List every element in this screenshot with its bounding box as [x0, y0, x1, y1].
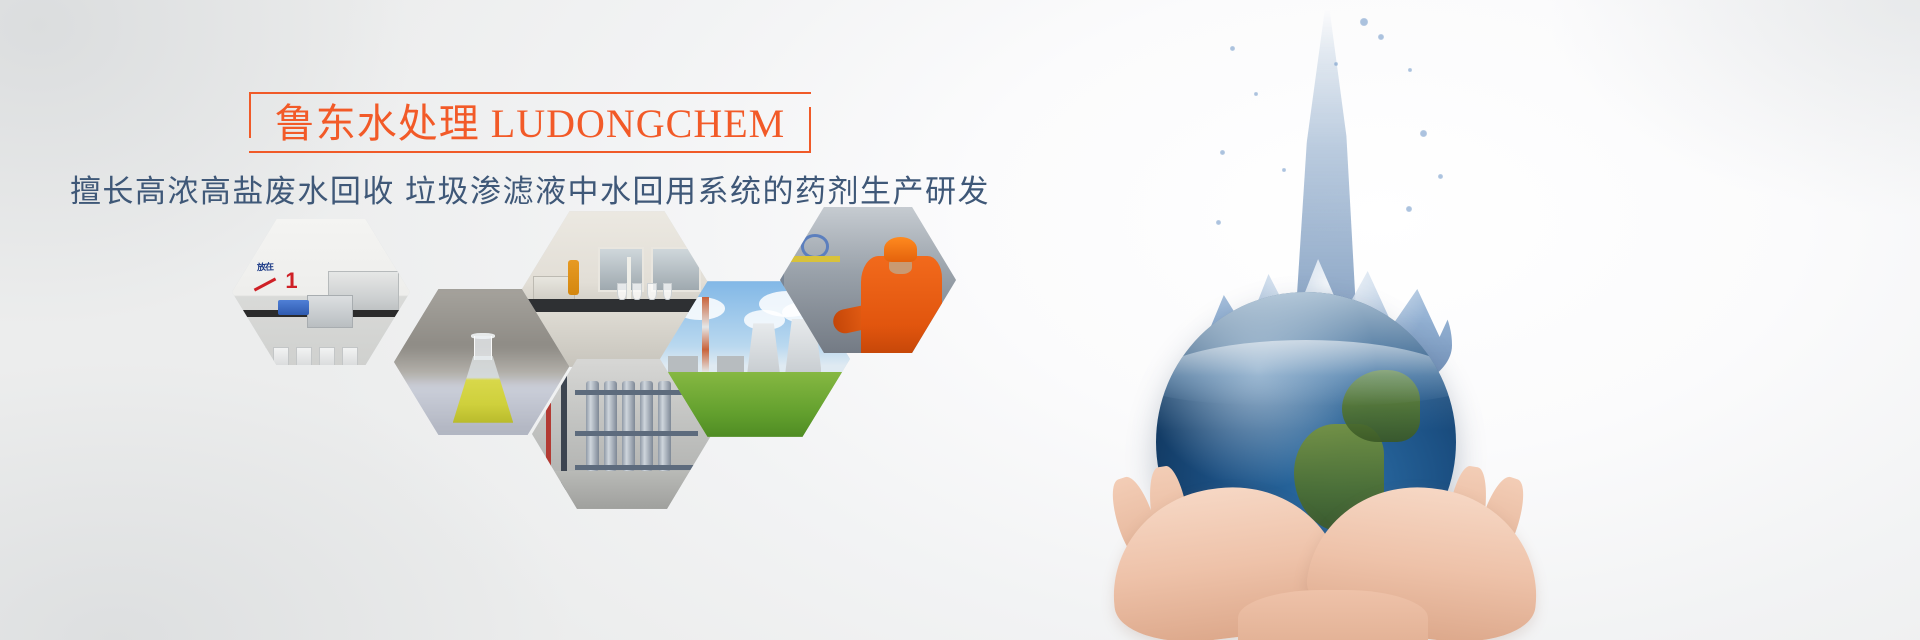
lab-glassware	[617, 283, 627, 301]
water-droplet	[1438, 174, 1443, 179]
yellow-pipe	[787, 256, 840, 262]
horizontal-pipe	[575, 431, 697, 436]
title-frame-top-rule	[249, 92, 811, 94]
water-droplet	[1282, 168, 1286, 172]
lab-glassware	[647, 283, 657, 301]
lab-machine	[307, 295, 353, 328]
banner-subtitle: 擅长高浓高盐废水回收 垃圾渗滤液中水回用系统的药剂生产研发	[0, 172, 1060, 212]
lab-window	[651, 247, 700, 292]
lab-room-photo: 放在 1	[232, 216, 410, 368]
cupped-hands	[1088, 470, 1558, 640]
banner-text-block: 鲁东水处理 LUDONGCHEM 擅长高浓高盐废水回收 垃圾渗滤液中水回用系统的…	[0, 92, 1060, 212]
page-title: 鲁东水处理 LUDONGCHEM	[275, 101, 785, 147]
wall-number-one: 1	[285, 268, 297, 294]
hexagon-gallery: 放在 1	[232, 216, 952, 526]
water-droplet	[1220, 150, 1225, 155]
wrists	[1238, 590, 1428, 640]
lab-jug	[319, 347, 335, 368]
lab-blue-instrument	[278, 300, 308, 315]
worker-orange-helmet	[884, 237, 917, 261]
water-droplet	[1216, 220, 1221, 225]
lab-table-top	[522, 299, 712, 312]
water-droplet	[1406, 206, 1412, 212]
horizontal-pipe	[575, 390, 697, 395]
lab-jug	[273, 347, 289, 368]
water-splash	[1210, 10, 1440, 340]
wall-slogan-text: 放在	[257, 261, 274, 272]
wall-arrow-icon	[254, 277, 277, 291]
water-droplet	[1230, 46, 1235, 51]
horizontal-pipe	[575, 465, 697, 470]
brand-title-frame: 鲁东水处理 LUDONGCHEM	[249, 92, 811, 153]
lab-stand-pole	[627, 257, 631, 302]
water-droplet	[1360, 18, 1368, 26]
water-globe-hero	[1060, 0, 1620, 640]
lab-orange-object	[568, 260, 579, 296]
lab-jug	[342, 347, 358, 368]
water-droplet	[1408, 68, 1412, 72]
smoke-stack	[702, 297, 710, 372]
splash-spike	[1296, 10, 1356, 310]
lab-glassware	[663, 283, 673, 301]
gallery-hexagon-lab-room: 放在 1	[232, 216, 410, 368]
plant-building	[717, 356, 744, 372]
plant-building	[668, 356, 698, 372]
lab-jug	[250, 347, 266, 368]
water-droplet	[1254, 92, 1258, 96]
title-frame-bottom-rule	[249, 151, 811, 153]
water-droplet	[1378, 34, 1384, 40]
cooling-tower	[747, 323, 779, 372]
lab-glassware	[632, 283, 642, 301]
hero-banner: 鲁东水处理 LUDONGCHEM 擅长高浓高盐废水回收 垃圾渗滤液中水回用系统的…	[0, 0, 1920, 640]
water-droplet	[1334, 62, 1338, 66]
plant-floor	[532, 471, 712, 512]
water-droplet	[1420, 130, 1427, 137]
red-pipe	[546, 403, 551, 475]
lab-jug	[296, 347, 312, 368]
